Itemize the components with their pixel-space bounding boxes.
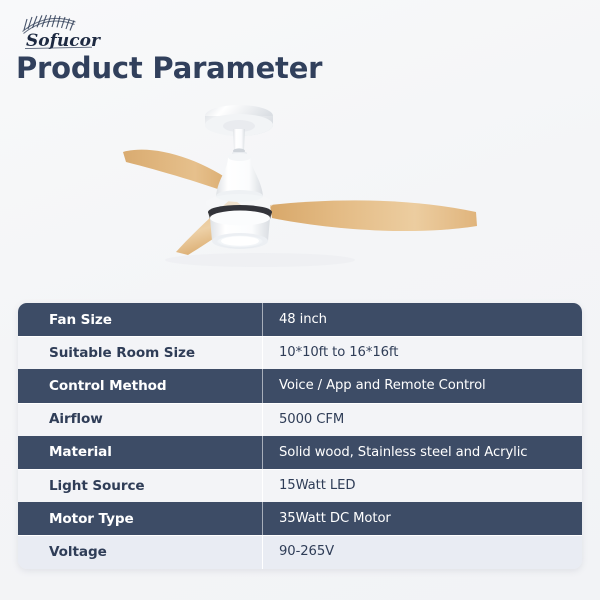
spec-label: Control Method <box>18 369 262 402</box>
page-title: Product Parameter <box>16 51 322 85</box>
table-row: Material Solid wood, Stainless steel and… <box>18 436 582 469</box>
table-row: Control Method Voice / App and Remote Co… <box>18 369 582 402</box>
product-parameter-table: Fan Size 48 inch Suitable Room Size 10*1… <box>18 303 582 569</box>
table-row: Voltage 90-265V <box>18 535 582 568</box>
spec-value: 48 inch <box>262 303 582 336</box>
spec-value: Solid wood, Stainless steel and Acrylic <box>262 436 582 469</box>
spec-value: 5000 CFM <box>262 403 582 436</box>
brand-logo: Sofucor <box>14 6 110 52</box>
spec-label: Light Source <box>18 469 262 502</box>
spec-label: Motor Type <box>18 502 262 535</box>
product-image <box>120 100 490 280</box>
sunburst-fan-icon: Sofucor <box>14 6 110 52</box>
spec-value: 90-265V <box>262 535 582 568</box>
spec-label: Material <box>18 436 262 469</box>
table-row: Suitable Room Size 10*10ft to 16*16ft <box>18 336 582 369</box>
spec-value: 35Watt DC Motor <box>262 502 582 535</box>
spec-label: Fan Size <box>18 303 262 336</box>
table-row: Light Source 15Watt LED <box>18 469 582 502</box>
spec-label: Airflow <box>18 403 262 436</box>
downrod <box>233 129 245 150</box>
spec-label: Suitable Room Size <box>18 336 262 369</box>
table-row: Motor Type 35Watt DC Motor <box>18 502 582 535</box>
spec-label: Voltage <box>18 535 262 568</box>
spec-value: Voice / App and Remote Control <box>262 369 582 402</box>
ceiling-fan-illustration <box>120 100 490 280</box>
table-row: Airflow 5000 CFM <box>18 403 582 436</box>
spec-value: 10*10ft to 16*16ft <box>262 336 582 369</box>
spec-value: 15Watt LED <box>262 469 582 502</box>
fan-blade-right <box>270 200 477 231</box>
table-row: Fan Size 48 inch <box>18 303 582 336</box>
